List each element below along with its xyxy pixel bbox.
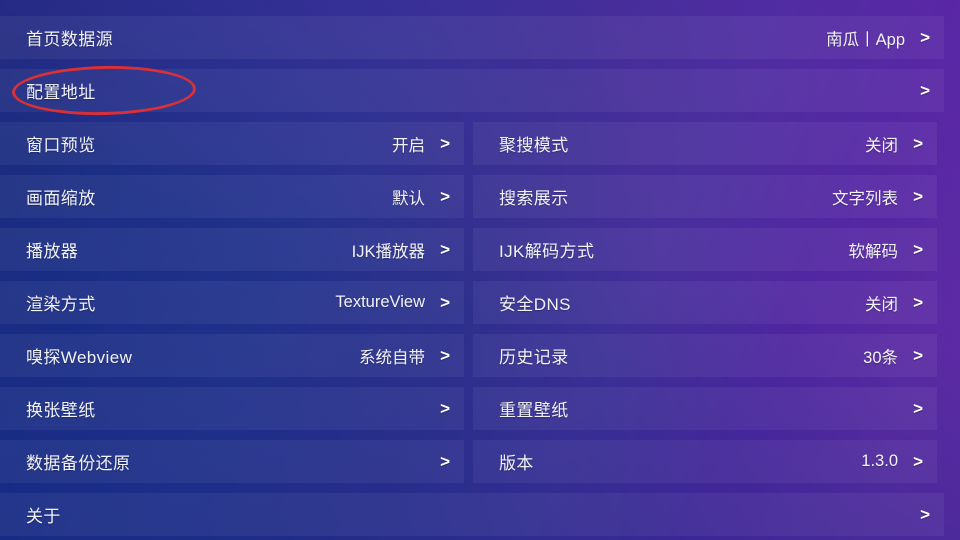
setting-label: 播放器 [26,237,352,262]
setting-value: 系统自带 [359,344,425,368]
settings-row: 首页数据源 南瓜丨App > [0,11,960,64]
setting-label: 渲染方式 [26,290,335,315]
setting-item-search-display[interactable]: 搜索展示 文字列表 > [473,175,937,218]
chevron-right-icon: > [918,506,930,523]
chevron-right-icon: > [911,135,923,152]
settings-screen: 首页数据源 南瓜丨App > 配置地址 > 窗口预览 开启 > 聚搜模式 关闭 [0,0,960,540]
setting-item-data-backup-restore[interactable]: 数据备份还原 > [0,440,464,483]
setting-value: IJK播放器 [352,238,425,262]
setting-label: 嗅探Webview [26,343,359,368]
setting-label: 数据备份还原 [26,449,425,474]
setting-item-version[interactable]: 版本 1.3.0 > [473,440,937,483]
settings-row: 换张壁纸 > 重置壁纸 > [0,382,960,435]
chevron-right-icon: > [438,188,450,205]
setting-label: 搜索展示 [499,184,832,209]
setting-item-reset-wallpaper[interactable]: 重置壁纸 > [473,387,937,430]
setting-label: 关于 [26,502,905,527]
setting-item-history[interactable]: 历史记录 30条 > [473,334,937,377]
chevron-right-icon: > [438,294,450,311]
settings-row: 播放器 IJK播放器 > IJK解码方式 软解码 > [0,223,960,276]
chevron-right-icon: > [911,400,923,417]
setting-value: 关闭 [865,132,898,156]
settings-row: 数据备份还原 > 版本 1.3.0 > [0,435,960,488]
chevron-right-icon: > [911,188,923,205]
setting-item-change-wallpaper[interactable]: 换张壁纸 > [0,387,464,430]
setting-item-window-preview[interactable]: 窗口预览 开启 > [0,122,464,165]
setting-label: 窗口预览 [26,131,392,156]
setting-value: 默认 [392,185,425,209]
chevron-right-icon: > [438,135,450,152]
setting-value: 软解码 [849,238,899,262]
setting-value: TextureView [335,293,425,312]
setting-label: 安全DNS [499,290,865,315]
setting-item-aggregate-search-mode[interactable]: 聚搜模式 关闭 > [473,122,937,165]
setting-value: 南瓜丨App [826,26,905,50]
setting-value: 开启 [392,132,425,156]
chevron-right-icon: > [438,347,450,364]
setting-item-ijk-decoder[interactable]: IJK解码方式 软解码 > [473,228,937,271]
setting-value: 1.3.0 [861,452,898,471]
settings-row: 配置地址 > [0,64,960,117]
setting-value: 文字列表 [832,185,898,209]
chevron-right-icon: > [918,29,930,46]
setting-label: 配置地址 [26,78,905,103]
setting-item-picture-scale[interactable]: 画面缩放 默认 > [0,175,464,218]
chevron-right-icon: > [918,82,930,99]
settings-row: 嗅探Webview 系统自带 > 历史记录 30条 > [0,329,960,382]
setting-item-config-address[interactable]: 配置地址 > [0,69,944,112]
chevron-right-icon: > [438,453,450,470]
settings-row: 窗口预览 开启 > 聚搜模式 关闭 > [0,117,960,170]
setting-label: 重置壁纸 [499,396,898,421]
setting-label: 版本 [499,449,861,474]
chevron-right-icon: > [438,400,450,417]
setting-label: 换张壁纸 [26,396,425,421]
setting-label: 首页数据源 [26,25,826,50]
settings-list: 首页数据源 南瓜丨App > 配置地址 > 窗口预览 开启 > 聚搜模式 关闭 [0,0,960,540]
settings-row: 画面缩放 默认 > 搜索展示 文字列表 > [0,170,960,223]
setting-item-about[interactable]: 关于 > [0,493,944,536]
setting-item-secure-dns[interactable]: 安全DNS 关闭 > [473,281,937,324]
setting-label: 画面缩放 [26,184,392,209]
setting-item-player[interactable]: 播放器 IJK播放器 > [0,228,464,271]
setting-label: IJK解码方式 [499,237,849,262]
setting-item-render-mode[interactable]: 渲染方式 TextureView > [0,281,464,324]
setting-item-sniffer-webview[interactable]: 嗅探Webview 系统自带 > [0,334,464,377]
settings-row: 关于 > [0,488,960,540]
setting-label: 聚搜模式 [499,131,865,156]
setting-value: 关闭 [865,291,898,315]
chevron-right-icon: > [438,241,450,258]
setting-label: 历史记录 [499,343,863,368]
setting-item-home-data-source[interactable]: 首页数据源 南瓜丨App > [0,16,944,59]
chevron-right-icon: > [911,241,923,258]
chevron-right-icon: > [911,453,923,470]
setting-value: 30条 [863,344,898,368]
chevron-right-icon: > [911,347,923,364]
chevron-right-icon: > [911,294,923,311]
settings-row: 渲染方式 TextureView > 安全DNS 关闭 > [0,276,960,329]
